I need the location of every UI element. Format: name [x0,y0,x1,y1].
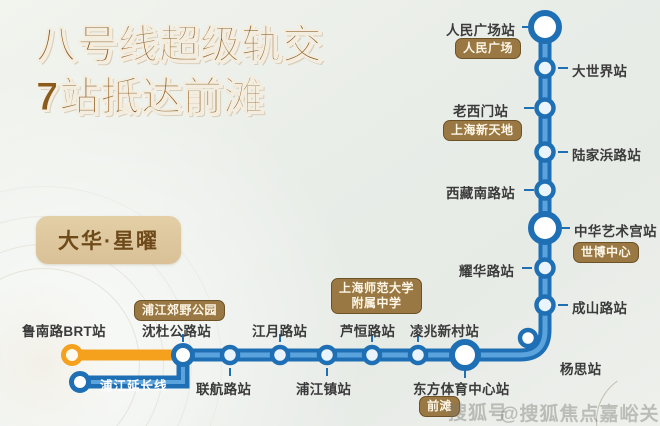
station-label-yaohua-lu[interactable]: 耀华路站 [459,260,514,280]
station-label-yangsi[interactable]: 杨思站 [560,358,601,378]
station-marker-lingzhao-xincun[interactable] [410,347,426,363]
poi-badge-line-1: 上海师范大学 [339,281,414,296]
station-marker-dongfang-tiyu-zhongxin[interactable] [452,342,478,368]
station-marker-yaohua-lu[interactable] [537,260,554,277]
headline-block: 八号线超级轨交 7站抵达前滩 [36,22,323,120]
station-marker-branch-terminus[interactable] [72,374,89,391]
station-marker-zhonghua-yishugong[interactable] [531,214,559,242]
station-label-luheng-lu[interactable]: 芦恒路站 [340,320,395,340]
poi-badge-shishida-fuzhong: 上海师范大学 附属中学 [331,278,422,314]
station-label-zhonghua-yishugong[interactable]: 中华艺术宫站 [574,220,657,240]
station-label-xizang-nanlu[interactable]: 西藏南路站 [446,182,515,202]
station-marker-jiangyue-lu[interactable] [272,347,288,363]
poi-badge-line-2: 附属中学 [339,296,414,311]
station-label-pujiang-zhen[interactable]: 浦江镇站 [296,378,351,398]
station-marker-luheng-lu[interactable] [364,347,380,363]
station-marker-pujiang-zhen[interactable] [319,347,335,363]
station-label-lujiabang-lu[interactable]: 陆家浜路站 [572,144,641,164]
station-marker-lunan-lu-brt[interactable] [64,347,81,364]
station-label-renmin-guangchang[interactable]: 人民广场站 [446,19,515,39]
station-marker-laoximen[interactable] [537,100,554,117]
poi-badge-renmin-guangchang: 人民广场 [455,38,521,59]
poi-badge-xintiandi: 上海新天地 [443,120,522,141]
poi-badge-shibo-zhongxin: 世博中心 [573,242,639,263]
headline-line-1: 八号线超级轨交 [36,22,323,68]
headline-line-2: 7站抵达前滩 [36,74,323,120]
station-label-lianhang-lu[interactable]: 联航路站 [196,378,251,398]
brand-name: 大华·星曜 [58,225,159,255]
poi-badge-pujiang-jiaoye-gongyuan: 浦江郊野公园 [134,300,225,321]
watermark-brand: 搜狐号 [448,398,508,425]
station-marker-dashijie[interactable] [537,60,554,77]
station-marker-lianhang-lu[interactable] [222,347,238,363]
station-label-chengshan-lu[interactable]: 成山路站 [572,297,627,317]
station-marker-shendu-gonglu[interactable] [174,346,193,365]
station-label-laoximen[interactable]: 老西门站 [453,100,508,120]
station-label-dashijie[interactable]: 大世界站 [572,60,627,80]
station-label-lingzhao-xincun[interactable]: 凌兆新村站 [410,320,479,340]
metro-line-infographic: 八号线超级轨交 7站抵达前滩 大华·星曜 [0,0,660,426]
station-marker-xizang-nanlu[interactable] [537,182,554,199]
station-marker-renmin-guangchang[interactable] [531,13,559,41]
brand-badge: 大华·星曜 [36,216,181,264]
station-label-jiangyue-lu[interactable]: 江月路站 [252,320,307,340]
station-label-dongfang-tiyu-zhongxin[interactable]: 东方体育中心站 [413,378,510,398]
station-marker-yangsi[interactable] [520,330,536,346]
station-label-shendu-gonglu[interactable]: 沈杜公路站 [142,320,211,340]
station-label-lunan-lu-brt[interactable]: 鲁南路BRT站 [22,320,106,340]
watermark-account: @搜狐焦点嘉峪关站 [500,399,660,426]
station-marker-lujiabang-lu[interactable] [537,144,554,161]
branch-line-label: 浦江延长线 [100,375,168,394]
station-marker-chengshan-lu[interactable] [537,297,554,314]
